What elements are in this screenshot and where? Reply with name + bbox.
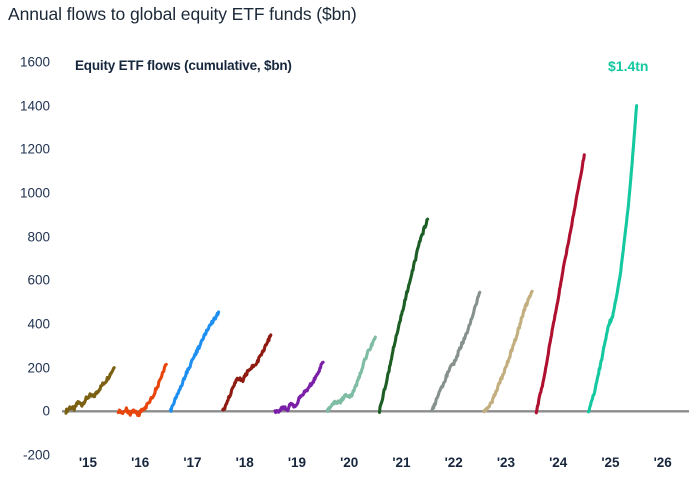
series-line-2015	[66, 368, 114, 414]
series-line-2016	[118, 364, 166, 415]
series-line-2018	[223, 335, 271, 410]
series-line-2022	[432, 292, 480, 410]
series-line-2017	[171, 312, 219, 411]
series-line-2024	[536, 155, 584, 413]
series-line-2025	[589, 106, 637, 412]
series-line-2020	[327, 337, 375, 411]
series-line-2023	[484, 291, 532, 411]
series-line-2021	[380, 219, 428, 412]
series-line-2019	[275, 362, 323, 412]
chart-container: Annual flows to global equity ETF funds …	[0, 0, 691, 479]
plot-area	[0, 0, 691, 479]
